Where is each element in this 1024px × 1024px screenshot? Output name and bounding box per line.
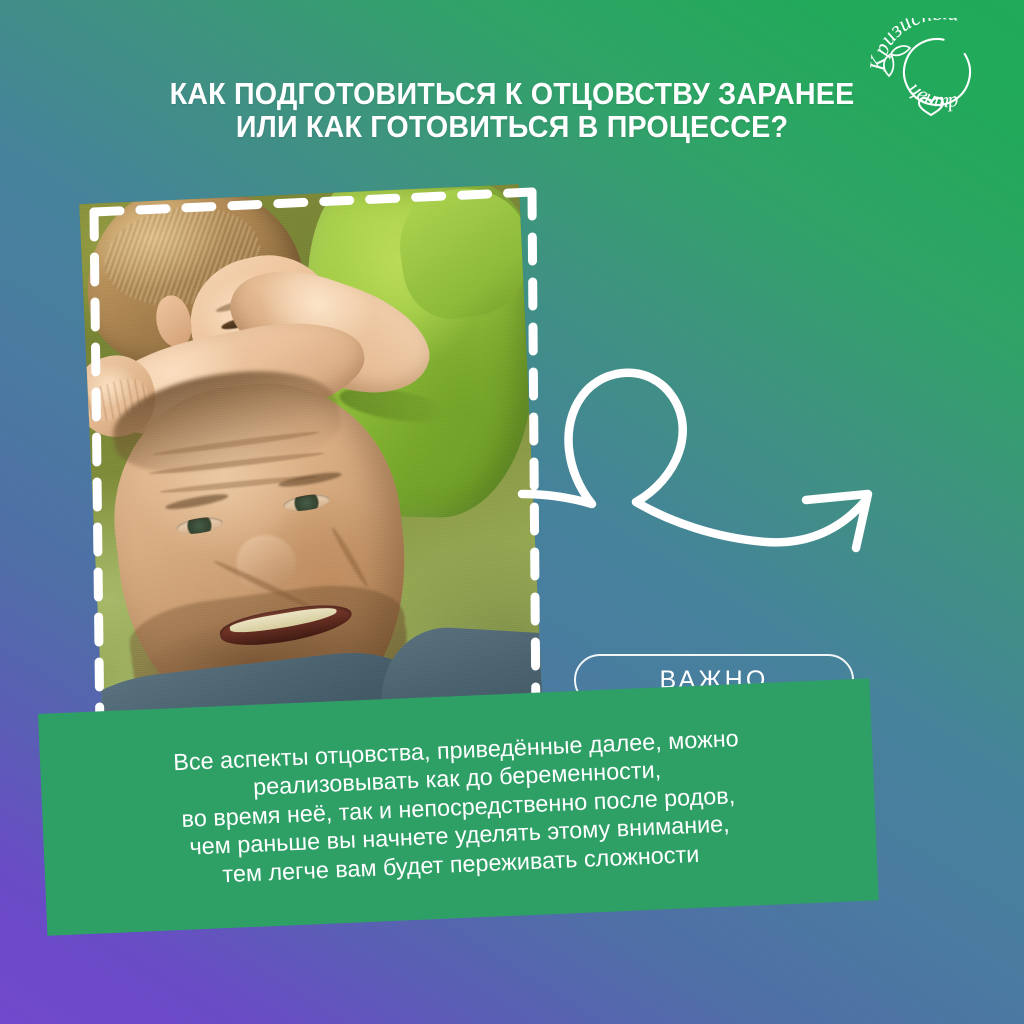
page-title: КАК ПОДГОТОВИТЬСЯ К ОТЦОВСТВУ ЗАРАНЕЕ ИЛ…: [31, 78, 994, 144]
photo-card: [66, 178, 536, 738]
svg-text:Кризисный: Кризисный: [864, 18, 961, 73]
photo-grain: [79, 184, 542, 731]
curly-arrow-doodle: [520, 352, 900, 592]
father-and-child-photo: [79, 184, 542, 731]
poster-canvas: Кризисный центр КАК ПОДГОТОВИТЬСЯ К ОТЦО…: [0, 0, 1024, 1024]
info-panel-text: Все аспекты отцовства, приведённые далее…: [38, 678, 879, 935]
photo-scene: [79, 184, 542, 731]
